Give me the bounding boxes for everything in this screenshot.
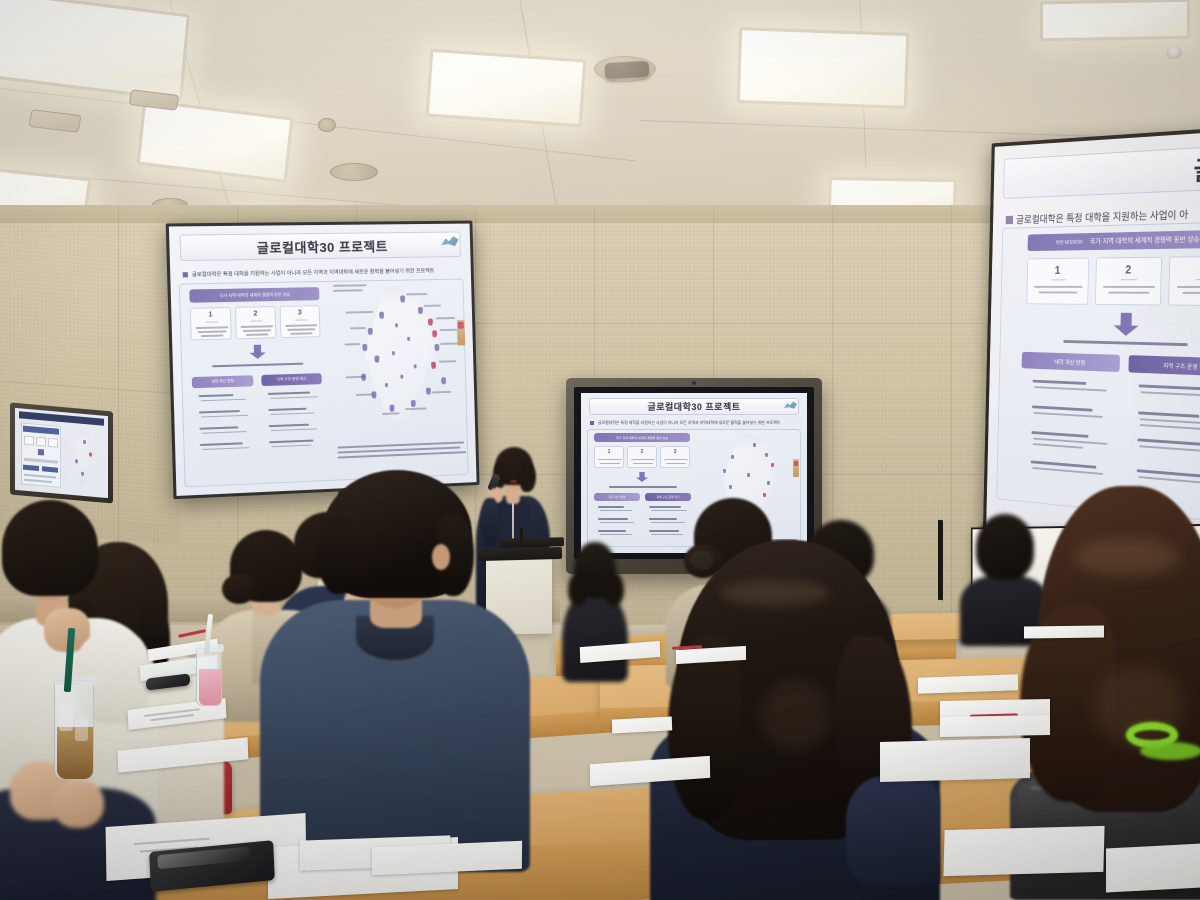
vision-pill-label: 국가·지역·대학의 세계적 경쟁력 동반 상승 [219, 291, 290, 298]
left-slide-title: 글로컬대학30 프로젝트 [257, 236, 389, 257]
handout-paper [940, 715, 1050, 737]
banner-university-innovation: 대학 혁신 방향 [594, 493, 640, 501]
card-number: 1 [191, 311, 230, 319]
concept-card: 1 [1026, 258, 1089, 305]
iced-drink-cup [54, 680, 94, 780]
left-slide-canvas: 글로컬대학30 프로젝트 글로컬대학은 특정 대학을 지원하는 사업이 아니라 … [169, 224, 477, 496]
notebook [880, 738, 1030, 782]
attendee-9 [650, 540, 940, 900]
card-number: 1 [1028, 263, 1088, 276]
security-camera-icon [1166, 46, 1182, 59]
card-number: 3 [1170, 262, 1200, 276]
ice-cube [59, 705, 73, 731]
bullet-square-icon [590, 421, 594, 425]
left-slide-title-bar: 글로컬대학30 프로젝트 [179, 231, 460, 261]
attendee-7 [260, 470, 530, 870]
vision-pill-tag: 비전 MISSION [1056, 238, 1083, 245]
ceiling-light-panel [737, 27, 910, 109]
concept-card: 2 [235, 306, 276, 339]
banner-label: 지역 구조·운영 혁신 [277, 377, 307, 383]
concept-card: 3 [1168, 256, 1200, 306]
banner-label: 지역 구조·운영 혁신 [1163, 361, 1200, 372]
attendee-8 [560, 538, 630, 658]
drink-liquid [199, 669, 221, 705]
ceiling-light-panel [426, 49, 587, 128]
ice-cube [75, 719, 88, 741]
ceiling-vent [330, 163, 378, 181]
handout-paper [1106, 843, 1200, 892]
concept-card: 1 [190, 307, 232, 340]
card-number: 2 [1096, 263, 1160, 277]
card-number: 3 [281, 309, 319, 317]
pink-drink-cup [196, 648, 222, 706]
bullet-square-icon [183, 272, 188, 277]
cup-lid [53, 675, 97, 685]
banner-label: 대학 혁신 방향 [1054, 357, 1085, 366]
tv-slide-title-bar: 글로컬대학30 프로젝트 [589, 398, 799, 415]
banner-label: 대학 혁신 방향 [211, 379, 233, 385]
left-projection-screen: 글로컬대학30 프로젝트 글로컬대학은 특정 대학을 지원하는 사업이 아니라 … [166, 221, 480, 500]
left-slide-headline: 글로컬대학은 특정 대학을 지원하는 사업이 아니라 모든 지역과 지역대학에 … [183, 267, 460, 279]
card-number: 2 [236, 310, 275, 318]
concept-card: 3 [280, 305, 321, 338]
bullet-square-icon [1006, 216, 1013, 224]
ceiling-light-panel [1040, 0, 1190, 41]
vision-pill: 국가·지역·대학의 세계적 경쟁력 동반 상승 [594, 433, 690, 442]
vision-pill: 국가·지역·대학의 세계적 경쟁력 동반 상승 [189, 287, 319, 303]
concept-card: 2 [1095, 257, 1162, 306]
seminar-room-photo: 글로컬대학30 프로젝트 글로컬대학은 특정 대학을 지원하는 사업이 아니라 … [0, 0, 1200, 900]
banner-university-innovation: 대학 혁신 방향 [192, 375, 254, 388]
projector-recess [594, 56, 656, 82]
headline-text: 글로컬대학은 특정 대학을 지원하는 사업이 아니라 모든 지역과 지역대학에 … [598, 420, 780, 426]
vision-pill-label: 국가·지역·대학의 세계적 경쟁력 동반 상승 [616, 436, 668, 440]
ceiling-vent [318, 118, 336, 132]
right-slide-title-bar: 글로컬 [1003, 143, 1200, 199]
handout-paper [943, 826, 1104, 876]
banner-regional-innovation: 지역 구조·운영 혁신 [261, 373, 322, 386]
cup-lid [196, 644, 224, 652]
right-slide-title: 글로컬 [1193, 147, 1200, 188]
tv-slide-title: 글로컬대학30 프로젝트 [647, 400, 740, 413]
left-wall-monitor [10, 402, 113, 503]
vision-pill-label: 국가·지역·대학의 세계적 경쟁력 동반 상승 [1089, 234, 1199, 246]
handout-paper [1024, 625, 1104, 638]
headline-text: 글로컬대학은 특정 대학을 지원하는 사업이 아니라 모든 지역과 지역대학에 … [192, 267, 435, 278]
